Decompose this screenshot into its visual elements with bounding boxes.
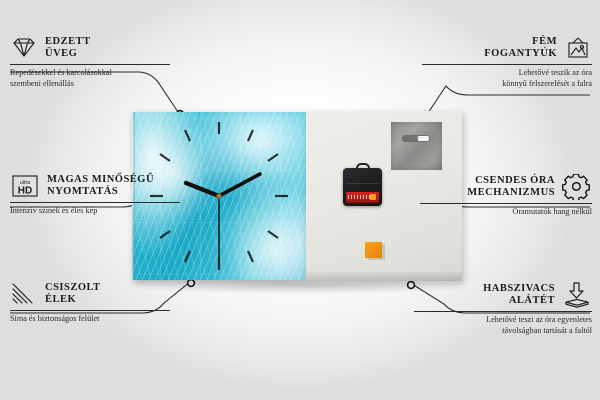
feature-description: Sima és biztonságos felület — [10, 314, 170, 325]
hour-hand — [186, 183, 219, 196]
feature-rule — [10, 310, 170, 311]
feature-description: Repedésekkel és karcolásokkal szembeni e… — [10, 68, 170, 90]
sanded-edge-icon — [10, 282, 38, 306]
picture-hanger-icon — [564, 36, 592, 60]
battery-label — [348, 195, 370, 199]
ultra-hd-icon: ultra HD — [10, 174, 40, 198]
back-panel-bottom-shade — [306, 272, 462, 281]
feature-silent-clock-mechanism: CSENDES ÓRA MECHANIZMUS Óramutatók hang … — [420, 174, 592, 218]
feature-high-quality-print: ultra HD MAGAS MINŐSÉGŰ NYOMTATÁS Intenz… — [10, 174, 180, 217]
feature-polished-edges: CSISZOLT ÉLEK Sima és biztonságos felüle… — [10, 282, 170, 325]
clock-hands — [186, 174, 260, 258]
diamond-icon — [10, 37, 38, 59]
battery-terminal — [370, 194, 376, 200]
feature-rule — [422, 64, 592, 65]
feature-title: FÉM FOGANTYÚK — [484, 36, 557, 61]
infographic-stage: EDZETT ÜVEG Repedésekkel és karcolásokka… — [0, 0, 600, 400]
feature-title: CSENDES ÓRA MECHANIZMUS — [467, 175, 555, 200]
clock-mechanism — [343, 168, 382, 206]
feature-title: MAGAS MINŐSÉGŰ NYOMTATÁS — [47, 174, 154, 199]
mechanism-loop — [356, 163, 370, 172]
metal-hanger-plate — [391, 122, 442, 170]
feature-metal-handles: FÉM FOGANTYÚK Lehetővé teszik az óra kön… — [422, 36, 592, 89]
feature-title: EDZETT ÜVEG — [45, 36, 91, 61]
battery — [346, 192, 379, 203]
feature-rule — [414, 311, 592, 312]
feature-title: HABSZIVACS ALÁTÉT — [483, 283, 555, 308]
minute-hand — [219, 174, 260, 196]
product-image — [132, 112, 462, 280]
foam-pad-icon — [562, 282, 592, 308]
feature-description: Lehetővé teszik az óra könnyű felszerelé… — [422, 68, 592, 90]
feature-rule — [10, 202, 180, 203]
feature-description: Intenzív színek és éles kép — [10, 206, 180, 217]
ultra-hd-icon-large-label: HD — [18, 186, 32, 197]
foam-pad — [365, 242, 382, 258]
mechanism-seam — [346, 183, 379, 184]
feature-rule — [10, 64, 170, 65]
feature-foam-spacer: HABSZIVACS ALÁTÉT Lehetővé teszi az óra … — [414, 282, 592, 337]
hanger-slot — [402, 135, 430, 142]
hands-pivot — [216, 193, 221, 198]
feature-title: CSISZOLT ÉLEK — [45, 282, 101, 307]
feature-description: Lehetővé teszi az óra egyenletes távolsá… — [414, 315, 592, 337]
feature-description: Óramutatók hang nélkül — [420, 207, 592, 218]
feature-rule — [420, 203, 592, 204]
gear-icon — [562, 174, 592, 200]
feature-tempered-glass: EDZETT ÜVEG Repedésekkel és karcolásokka… — [10, 36, 170, 89]
